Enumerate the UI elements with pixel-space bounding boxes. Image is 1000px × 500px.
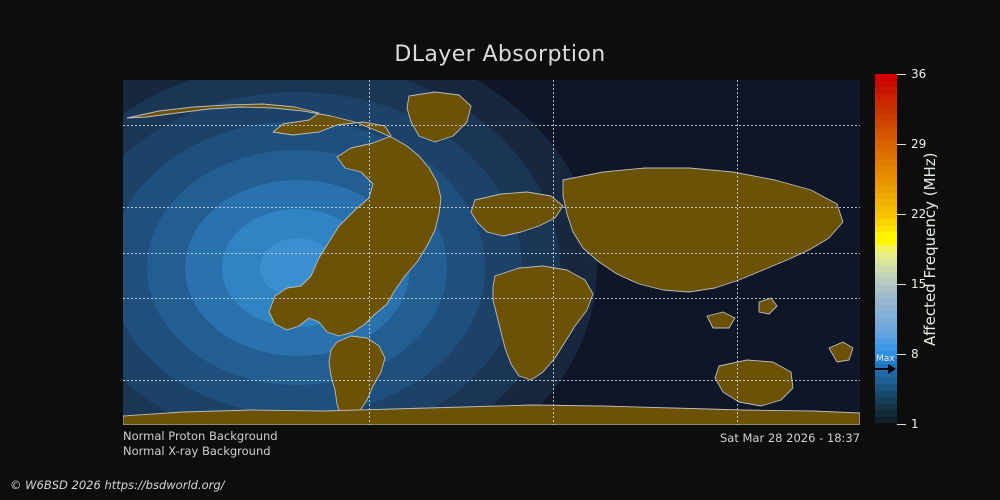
colorbar-segment bbox=[875, 186, 897, 193]
graticule-latitude bbox=[123, 298, 860, 299]
graticule-latitude bbox=[123, 253, 860, 254]
colorbar-segment bbox=[875, 180, 897, 187]
colorbar-segment bbox=[875, 325, 897, 332]
tick-mark bbox=[897, 74, 906, 75]
max-marker-label: Max bbox=[875, 354, 897, 364]
colorbar-segment bbox=[875, 404, 897, 411]
colorbar-axis-label: Affected Frequency (MHz) bbox=[915, 74, 945, 424]
max-arrow-icon bbox=[875, 364, 896, 374]
tick-mark bbox=[897, 144, 906, 145]
colorbar-segment bbox=[875, 219, 897, 226]
colorbar-segment bbox=[875, 410, 897, 417]
graticule-longitude bbox=[553, 80, 554, 425]
colorbar-segment bbox=[875, 298, 897, 305]
colorbar-segment bbox=[875, 212, 897, 219]
colorbar-segment bbox=[875, 87, 897, 94]
tick-mark bbox=[897, 354, 906, 355]
colorbar-segment bbox=[875, 100, 897, 107]
colorbar-segment bbox=[875, 206, 897, 213]
colorbar-segment bbox=[875, 311, 897, 318]
colorbar-segment bbox=[875, 199, 897, 206]
copyright-notice: © W6BSD 2026 https://bsdworld.org/ bbox=[10, 478, 225, 492]
colorbar-segment bbox=[875, 344, 897, 351]
colorbar-segment bbox=[875, 338, 897, 345]
colorbar-segment bbox=[875, 127, 897, 134]
colorbar-max-marker: Max bbox=[875, 354, 897, 376]
tick-mark bbox=[897, 284, 906, 285]
proton-background-note: Normal Proton Background bbox=[123, 429, 278, 444]
colorbar-segment bbox=[875, 226, 897, 233]
colorbar-segment bbox=[875, 166, 897, 173]
colorbar-segment bbox=[875, 397, 897, 404]
graticule-longitude bbox=[369, 80, 370, 425]
colorbar-segment bbox=[875, 285, 897, 292]
colorbar-segment bbox=[875, 252, 897, 259]
colorbar-segment bbox=[875, 140, 897, 147]
colorbar-segment bbox=[875, 107, 897, 114]
colorbar-segment bbox=[875, 193, 897, 200]
colorbar-segment bbox=[875, 74, 897, 81]
timestamp: Sat Mar 28 2026 - 18:37 bbox=[720, 431, 860, 445]
graticule-longitude bbox=[737, 80, 738, 425]
graticule-latitude bbox=[123, 207, 860, 208]
colorbar-segment bbox=[875, 331, 897, 338]
colorbar-segment bbox=[875, 160, 897, 167]
world-map[interactable] bbox=[123, 80, 860, 425]
colorbar-segment bbox=[875, 272, 897, 279]
tick-mark bbox=[897, 214, 906, 215]
colorbar-segment bbox=[875, 153, 897, 160]
colorbar-segment bbox=[875, 391, 897, 398]
colorbar-segment bbox=[875, 232, 897, 239]
colorbar-segment bbox=[875, 417, 897, 424]
colorbar-segment bbox=[875, 120, 897, 127]
page-title: DLayer Absorption bbox=[0, 42, 1000, 67]
colorbar-segment bbox=[875, 133, 897, 140]
background-notes: Normal Proton Background Normal X-ray Ba… bbox=[123, 429, 278, 459]
colorbar-segment bbox=[875, 259, 897, 266]
colorbar-segment bbox=[875, 245, 897, 252]
colorbar-segment bbox=[875, 265, 897, 272]
tick-mark bbox=[897, 424, 906, 425]
colorbar-segment bbox=[875, 384, 897, 391]
colorbar-segment bbox=[875, 94, 897, 101]
colorbar-segment bbox=[875, 114, 897, 121]
colorbar-segment bbox=[875, 305, 897, 312]
colorbar-segment bbox=[875, 292, 897, 299]
colorbar-segment bbox=[875, 81, 897, 88]
xray-background-note: Normal X-ray Background bbox=[123, 444, 278, 459]
colorbar-segment bbox=[875, 377, 897, 384]
colorbar-segment bbox=[875, 173, 897, 180]
colorbar-segment bbox=[875, 318, 897, 325]
colorbar-segment bbox=[875, 147, 897, 154]
colorbar-segment bbox=[875, 239, 897, 246]
colorbar-segment bbox=[875, 278, 897, 285]
graticule-latitude bbox=[123, 380, 860, 381]
dlayer-absorption-screen: DLayer Absorption bbox=[0, 0, 1000, 500]
graticule-latitude bbox=[123, 125, 860, 126]
